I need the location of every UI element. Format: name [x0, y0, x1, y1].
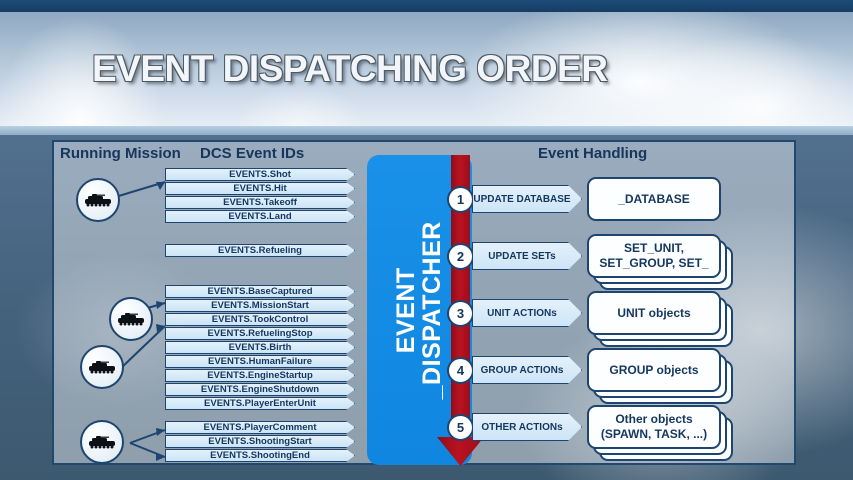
event-chip[interactable]: EVENTS.Takeoff: [165, 196, 355, 209]
step-number-1: 1: [447, 186, 474, 213]
tank-icon: [83, 192, 113, 208]
event-chip[interactable]: EVENTS.MissionStart: [165, 299, 355, 312]
event-chip[interactable]: EVENTS.Hit: [165, 182, 355, 195]
tank-icon: [87, 434, 117, 450]
action-chip-unit-actions[interactable]: UNIT ACTIONs: [472, 299, 582, 327]
event-chip[interactable]: EVENTS.PlayerEnterUnit: [165, 397, 355, 410]
column-header-dcs-event-ids: DCS Event IDs: [200, 145, 304, 162]
card-label: GROUP objects: [587, 348, 721, 392]
page-title: EVENT DISPATCHING ORDER: [92, 48, 607, 90]
event-chip[interactable]: EVENTS.RefuelingStop: [165, 327, 355, 340]
event-chip[interactable]: EVENTS.BaseCaptured: [165, 285, 355, 298]
tank-icon-group-4: [80, 345, 124, 389]
card-label: SET_UNIT, SET_GROUP, SET_: [587, 234, 721, 278]
result-card-sets[interactable]: SET_UNIT, SET_GROUP, SET_: [587, 234, 721, 278]
slide-root: EVENT DISPATCHING ORDER Running Mission …: [0, 0, 853, 480]
event-chip[interactable]: EVENTS.HumanFailure: [165, 355, 355, 368]
result-card-database[interactable]: _DATABASE: [587, 177, 721, 221]
tank-icon: [87, 359, 117, 375]
event-chip[interactable]: EVENTS.Shot: [165, 168, 355, 181]
step-number-4: 4: [447, 357, 474, 384]
tank-icon-group-3: [109, 297, 153, 341]
top-accent-bar: [0, 0, 853, 12]
result-card-other-objects[interactable]: Other objects (SPAWN, TASK, ...): [587, 405, 721, 449]
tank-icon-group-5: [80, 420, 124, 464]
column-header-event-handling: Event Handling: [538, 145, 647, 162]
action-chip-other-actions[interactable]: OTHER ACTIONs: [472, 413, 582, 441]
column-header-running-mission: Running Mission: [60, 145, 181, 162]
tank-icon: [116, 311, 146, 327]
event-chip[interactable]: EVENTS.EngineStartup: [165, 369, 355, 382]
action-chip-group-actions[interactable]: GROUP ACTIONs: [472, 356, 582, 384]
step-number-3: 3: [447, 300, 474, 327]
event-chip[interactable]: EVENTS.ShootingStart: [165, 435, 355, 448]
card-label: _DATABASE: [587, 177, 721, 221]
result-card-group-objects[interactable]: GROUP objects: [587, 348, 721, 392]
action-chip-update-sets[interactable]: UPDATE SETs: [472, 242, 582, 270]
action-chip-update-database[interactable]: UPDATE DATABASE: [472, 185, 582, 213]
card-label: UNIT objects: [587, 291, 721, 335]
event-chip[interactable]: EVENTS.EngineShutdown: [165, 383, 355, 396]
event-chip[interactable]: EVENTS.Land: [165, 210, 355, 223]
step-number-5: 5: [447, 414, 474, 441]
result-card-unit-objects[interactable]: UNIT objects: [587, 291, 721, 335]
card-label: Other objects (SPAWN, TASK, ...): [587, 405, 721, 449]
event-chip[interactable]: EVENTS.Birth: [165, 341, 355, 354]
banner-separator-bar: [0, 126, 853, 135]
event-chip[interactable]: EVENTS.Refueling: [165, 244, 355, 257]
event-chip[interactable]: EVENTS.PlayerComment: [165, 421, 355, 434]
event-chip[interactable]: EVENTS.ShootingEnd: [165, 449, 355, 462]
event-chip[interactable]: EVENTS.TookControl: [165, 313, 355, 326]
tank-icon-group-1: [76, 178, 120, 222]
step-number-2: 2: [447, 243, 474, 270]
